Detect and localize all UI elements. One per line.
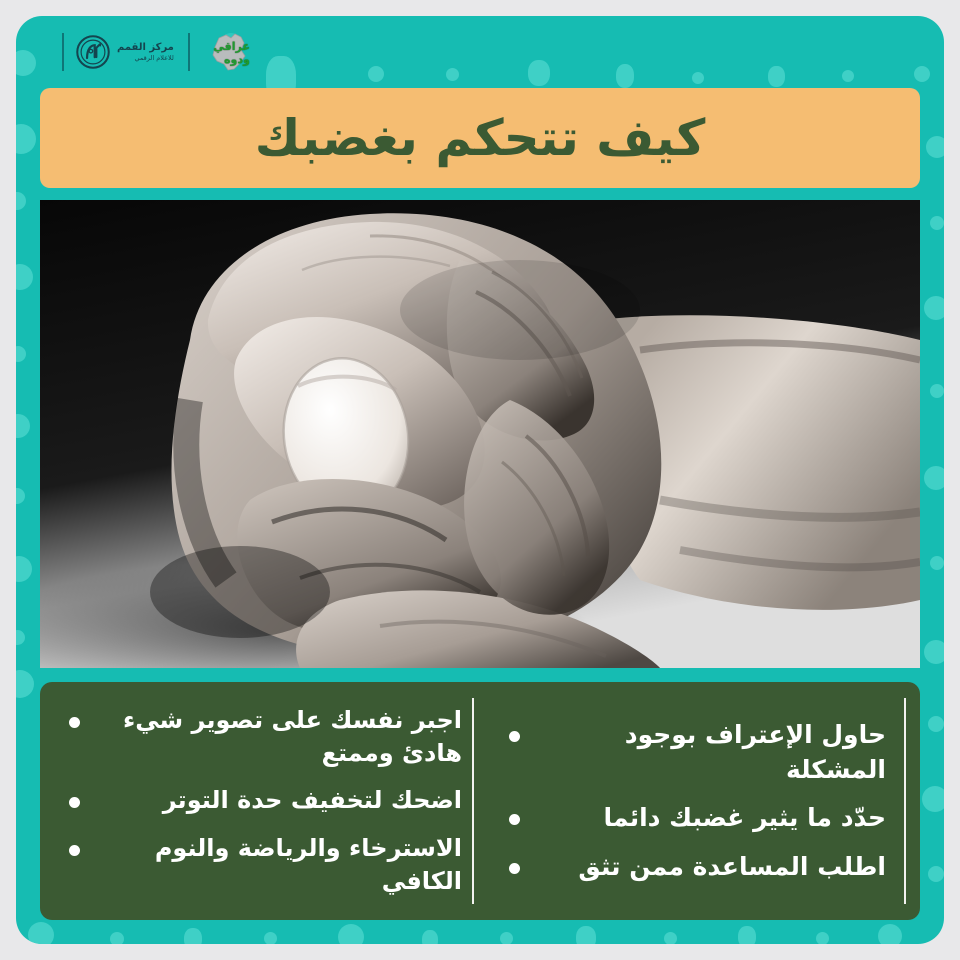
bullet-dot-icon [69, 717, 80, 728]
header-bar: مركز القمم للاعلام الرقمي عراقي ودوه [16, 16, 944, 88]
logo-secondary-name: عراقي ودوه [210, 43, 250, 63]
bullet-dot-icon [509, 731, 520, 742]
divider-left [62, 33, 64, 71]
logo-primary-name: مركز القمم [117, 43, 174, 53]
logo-primary: مركز القمم للاعلام الرقمي [76, 35, 174, 69]
tip-item: اضحك لتخفيف حدة التوتر [56, 784, 462, 817]
tips-column-right: حاول الإعتراف بوجود المشكلة حدّد ما يثير… [480, 682, 920, 920]
tip-text: اطلب المساعدة ممن تثق [520, 850, 886, 885]
hero-photo [40, 200, 920, 668]
tips-panel: حاول الإعتراف بوجود المشكلة حدّد ما يثير… [40, 682, 920, 920]
tip-text: حدّد ما يثير غضبك دائما [520, 801, 886, 836]
circular-seal-icon [76, 35, 110, 69]
poster-card: مركز القمم للاعلام الرقمي عراقي ودوه كيف… [16, 16, 944, 944]
tip-text: اجبر نفسك على تصوير شيء هادئ وممتع [80, 704, 462, 770]
logo-group: مركز القمم للاعلام الرقمي عراقي ودوه [50, 30, 252, 74]
tip-item: اجبر نفسك على تصوير شيء هادئ وممتع [56, 704, 462, 770]
divider-right [188, 33, 190, 71]
title-banner: كيف تتحكم بغضبك [40, 88, 920, 188]
tip-item: حاول الإعتراف بوجود المشكلة [496, 718, 886, 787]
bullet-dot-icon [69, 797, 80, 808]
logo-secondary: عراقي ودوه [204, 30, 252, 74]
tips-column-left: اجبر نفسك على تصوير شيء هادئ وممتع اضحك … [40, 682, 480, 920]
clenched-fist-image [40, 200, 920, 668]
page-title: كيف تتحكم بغضبك [255, 113, 706, 163]
tip-text: حاول الإعتراف بوجود المشكلة [520, 718, 886, 787]
tip-item: حدّد ما يثير غضبك دائما [496, 801, 886, 836]
bullet-dot-icon [509, 814, 520, 825]
tip-item: الاسترخاء والرياضة والنوم الكافي [56, 832, 462, 898]
tip-text: الاسترخاء والرياضة والنوم الكافي [80, 832, 462, 898]
bullet-dot-icon [69, 845, 80, 856]
bullet-dot-icon [509, 863, 520, 874]
tip-text: اضحك لتخفيف حدة التوتر [80, 784, 462, 817]
tip-item: اطلب المساعدة ممن تثق [496, 850, 886, 885]
logo-primary-tagline: للاعلام الرقمي [134, 55, 173, 62]
